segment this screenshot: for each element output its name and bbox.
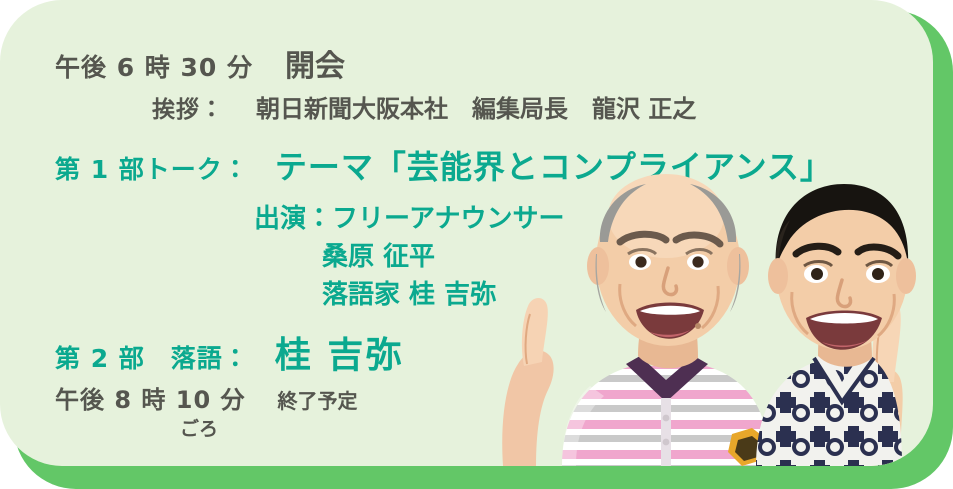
program-row-part2: 第 2 部 落語： 桂 吉弥: [55, 326, 403, 378]
greeting-value: 朝日新聞大阪本社 編集局長 龍沢 正之: [256, 89, 696, 124]
left-man-pointing-hand: [502, 298, 553, 466]
greeting-label: 挨拶：: [152, 90, 224, 124]
program-row-greeting: 挨拶： 朝日新聞大阪本社 編集局長 龍沢 正之: [152, 89, 696, 124]
closing-approx-label: ごろ: [180, 414, 218, 441]
part1-cast-line-2: 桑原 征平: [322, 236, 435, 273]
closing-note: 終了予定: [278, 385, 358, 414]
event-program-panel: 午後 6 時 30 分 開会 挨拶： 朝日新聞大阪本社 編集局長 龍沢 正之 第…: [0, 0, 953, 489]
right-man: [756, 184, 916, 466]
part2-label: 第 2 部 落語：: [55, 339, 249, 375]
left-man-polo-shirt: [562, 356, 770, 466]
part2-performer: 桂 吉弥: [275, 326, 404, 378]
performers-photo: [470, 150, 933, 466]
part1-label: 第 1 部トーク：: [55, 150, 249, 186]
left-man-head: [587, 174, 749, 346]
program-row-closing: 午後 8 時 10 分 終了予定: [55, 380, 358, 415]
opening-time: 午後 6 時 30 分: [55, 48, 253, 84]
opening-title: 開会: [285, 41, 345, 85]
program-card: 午後 6 時 30 分 開会 挨拶： 朝日新聞大阪本社 編集局長 龍沢 正之 第…: [0, 0, 933, 466]
program-row-opening: 午後 6 時 30 分 開会: [55, 41, 345, 85]
closing-time: 午後 8 時 10 分: [55, 380, 246, 415]
